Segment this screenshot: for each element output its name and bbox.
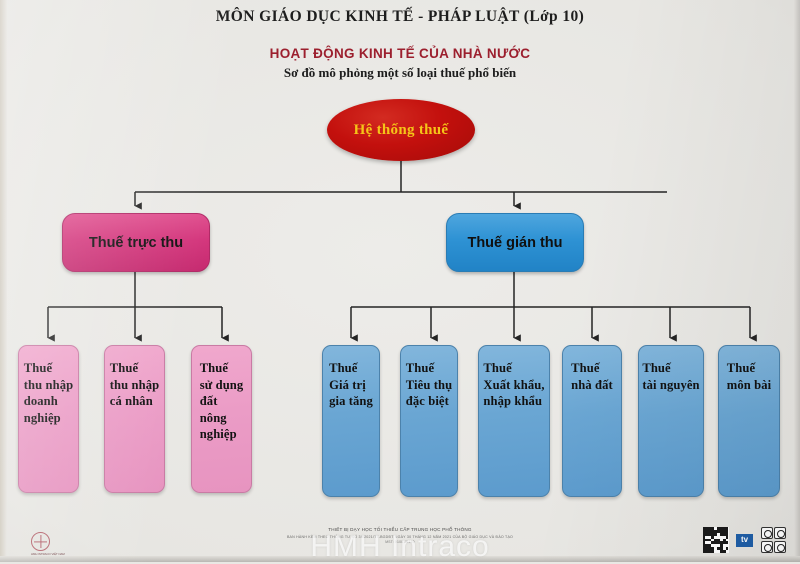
leaf-label: Thuếtài nguyên	[642, 360, 699, 393]
qr-code-icon[interactable]	[703, 527, 729, 553]
footer-logos: tv	[703, 527, 787, 553]
leaf-label: Thuếnhà đất	[571, 360, 613, 393]
leaf-node[interactable]: Thuếnhà đất	[562, 345, 622, 497]
publisher-logo-caption: HMH INTRACO VIỆT NAM	[31, 552, 83, 556]
leaf-node[interactable]: Thuếtài nguyên	[638, 345, 704, 497]
certification-badges	[761, 527, 787, 553]
leaf-node[interactable]: Thuếthu nhậpdoanhnghiệp	[18, 345, 79, 493]
poster-canvas: MÔN GIÁO DỤC KINH TẾ - PHÁP LUẬT (Lớp 10…	[0, 0, 800, 562]
tv-logo-icon: tv	[735, 528, 755, 552]
node-indirect-tax-label: Thuế gián thu	[467, 235, 562, 251]
leaf-node[interactable]: Thuếsử dụngđấtnôngnghiệp	[191, 345, 252, 493]
leaf-label: Thuếmôn bài	[727, 360, 771, 393]
publisher-mark-icon	[31, 532, 50, 551]
leaf-label: ThuếTiêu thụđặc biệt	[406, 360, 452, 410]
leaf-node[interactable]: ThuếTiêu thụđặc biệt	[400, 345, 458, 497]
badge-icon	[761, 527, 773, 539]
node-direct-tax-label: Thuế trực thu	[89, 235, 183, 251]
node-root-label: Hệ thống thuế	[354, 122, 449, 139]
leaf-node[interactable]: Thuếmôn bài	[718, 345, 780, 497]
leaf-node[interactable]: ThuếGiá trịgia tăng	[322, 345, 380, 497]
node-root[interactable]: Hệ thống thuế	[327, 99, 475, 161]
node-indirect-tax[interactable]: Thuế gián thu	[446, 213, 584, 272]
leaf-label: ThuếXuất khẩu,nhập khẩu	[483, 360, 544, 410]
badge-icon	[761, 541, 773, 553]
node-direct-tax[interactable]: Thuế trực thu	[62, 213, 210, 272]
leaf-label: Thuếthu nhậpcá nhân	[110, 360, 159, 410]
leaf-label: Thuếthu nhậpdoanhnghiệp	[24, 360, 73, 426]
leaf-label: ThuếGiá trịgia tăng	[329, 360, 373, 410]
badge-icon	[774, 541, 786, 553]
badge-icon	[774, 527, 786, 539]
leaf-node[interactable]: ThuếXuất khẩu,nhập khẩu	[478, 345, 550, 497]
watermark: HMH Intraco	[0, 530, 800, 564]
publisher-logo: HMH INTRACO VIỆT NAM	[31, 532, 83, 554]
leaf-node[interactable]: Thuếthu nhậpcá nhân	[104, 345, 165, 493]
leaf-label: Thuếsử dụngđấtnôngnghiệp	[200, 360, 244, 443]
